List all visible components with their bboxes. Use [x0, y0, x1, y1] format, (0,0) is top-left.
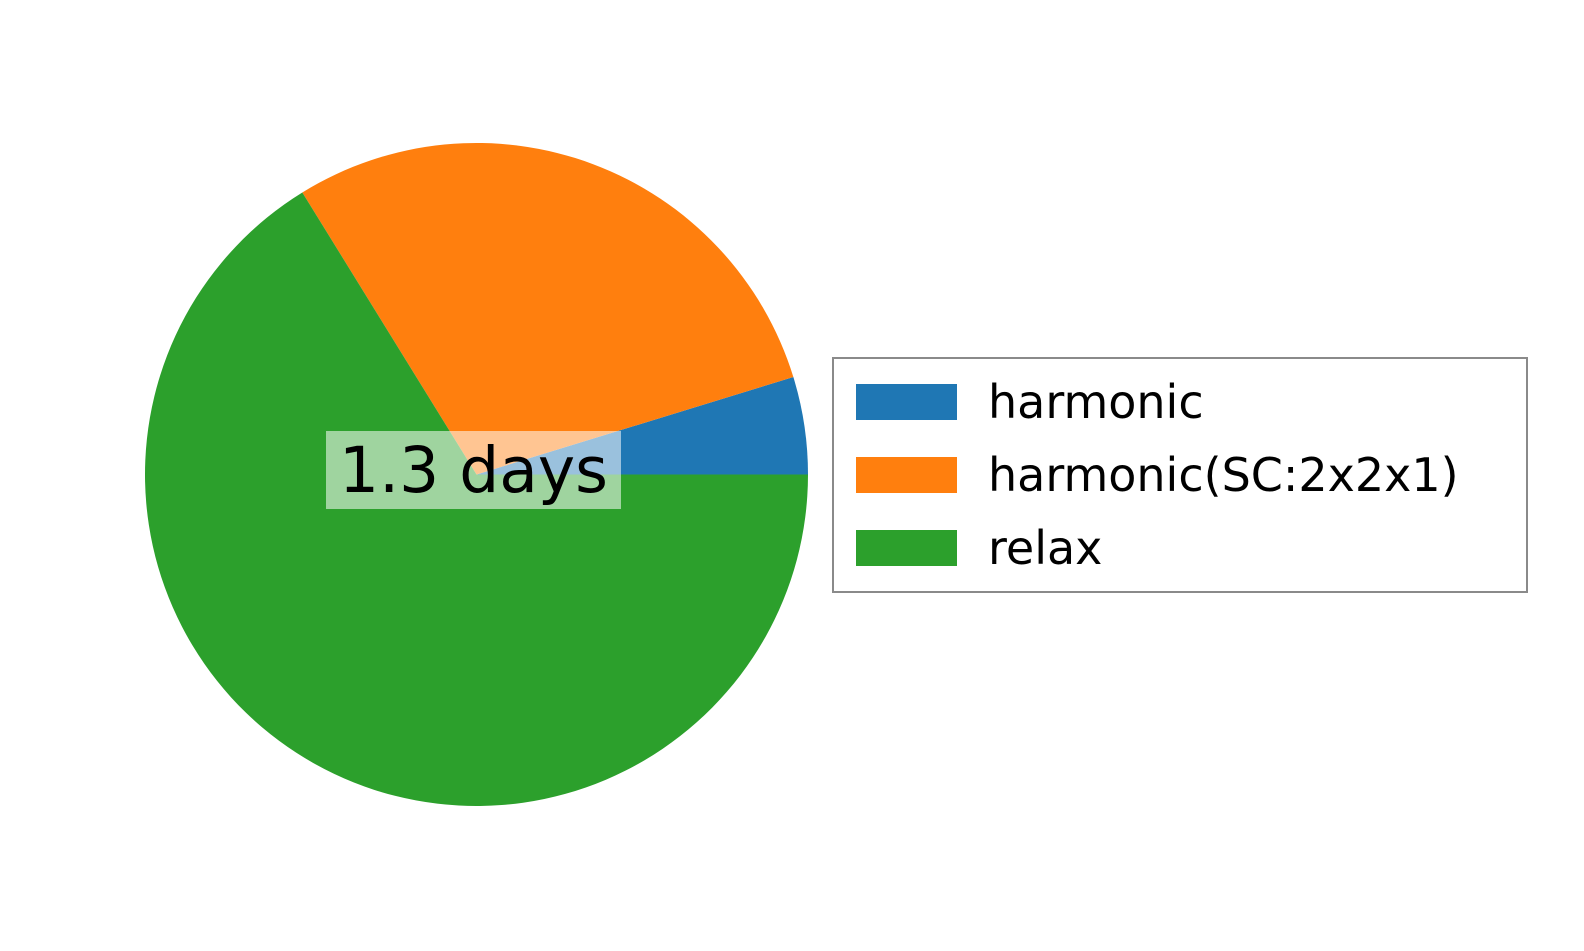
- legend-swatch-relax: [856, 530, 957, 566]
- legend-item-harmonic-sc[interactable]: harmonic(SC:2x2x1): [834, 446, 1459, 504]
- legend-item-relax[interactable]: relax: [834, 519, 1102, 577]
- center-total-label-box: 1.3 days: [326, 431, 621, 509]
- legend-label-harmonic: harmonic: [988, 379, 1204, 425]
- legend-label-harmonic-sc: harmonic(SC:2x2x1): [988, 452, 1459, 498]
- chart-legend: harmonic harmonic(SC:2x2x1) relax: [832, 357, 1528, 593]
- center-total-label-text: 1.3 days: [326, 431, 621, 509]
- legend-swatch-harmonic-sc: [856, 457, 957, 493]
- legend-item-harmonic[interactable]: harmonic: [834, 373, 1204, 431]
- legend-label-relax: relax: [988, 525, 1102, 571]
- pie-chart-figure: 1.3 days harmonic harmonic(SC:2x2x1) rel…: [0, 0, 1584, 951]
- legend-swatch-harmonic: [856, 384, 957, 420]
